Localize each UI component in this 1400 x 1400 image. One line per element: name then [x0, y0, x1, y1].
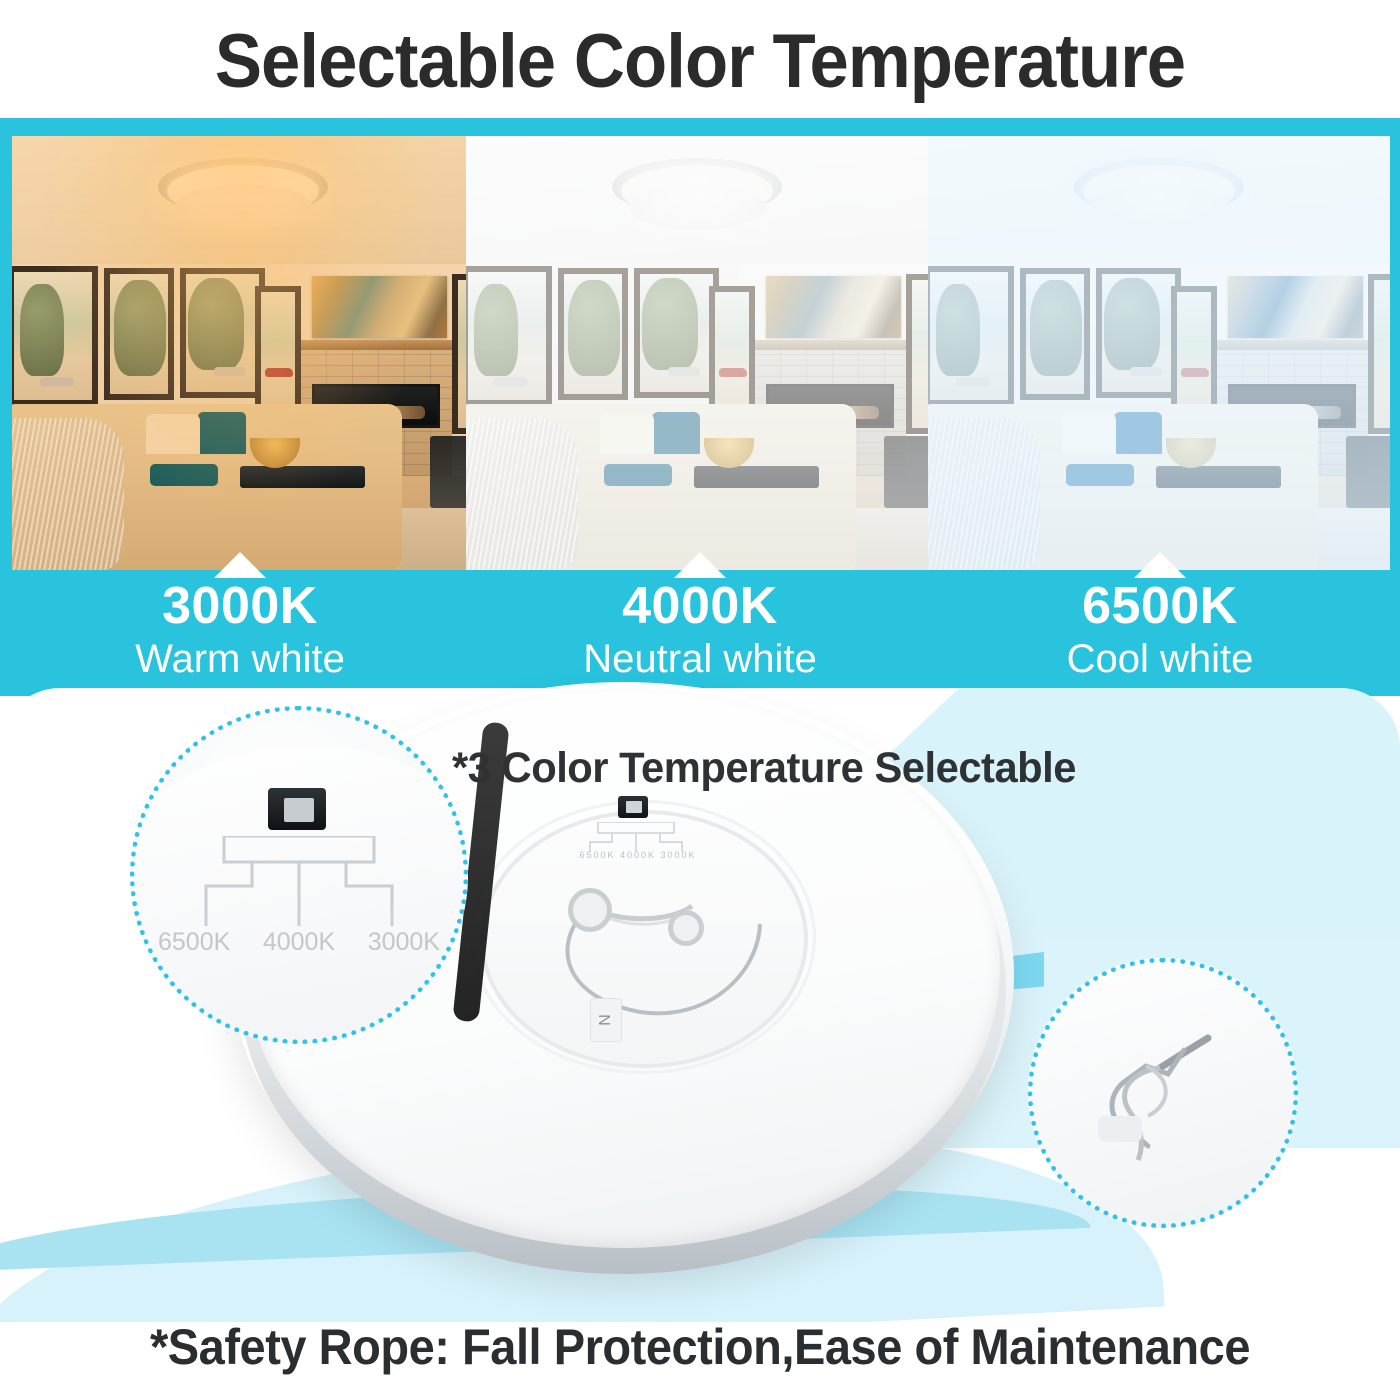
pointer-triangle-4000k [674, 552, 726, 578]
room-photo-6500k [928, 136, 1390, 570]
room-photo-strip [12, 136, 1390, 570]
switch-bracket-diagram [584, 822, 688, 852]
room-photo-3000k [12, 136, 466, 570]
callout-right-dotted-border [1028, 958, 1298, 1228]
label-group-3000k: 3000K Warm white [10, 580, 470, 682]
rope-clip-right [668, 910, 704, 946]
kelvin-name-6500k: Cool white [930, 636, 1390, 682]
kelvin-name-3000k: Warm white [10, 636, 470, 682]
kelvin-value-4000k: 4000K [470, 580, 930, 632]
page-title: Selectable Color Temperature [49, 0, 1351, 122]
color-temperature-comparison-band: 3000K Warm white 4000K Neutral white 650… [0, 118, 1400, 696]
fixture-switch-labels: 6500K 4000K 3000K [568, 850, 708, 860]
kelvin-value-6500k: 6500K [930, 580, 1390, 632]
neutral-wire-tag: N [590, 998, 622, 1042]
label-group-4000k: 4000K Neutral white [470, 580, 930, 682]
rope-clip-left [568, 888, 612, 932]
product-infographic: Selectable Color Temperature [0, 0, 1400, 1400]
pointer-triangle-3000k [214, 552, 266, 578]
kelvin-name-4000k: Neutral white [470, 636, 930, 682]
callout-left-dotted-border [130, 706, 468, 1044]
footer-caption: *Safety Rope: Fall Protection,Ease of Ma… [42, 1318, 1358, 1376]
dip-switch [618, 796, 648, 818]
kelvin-value-3000k: 3000K [10, 580, 470, 632]
label-group-6500k: 6500K Cool white [930, 580, 1390, 682]
pointer-triangle-6500k [1134, 552, 1186, 578]
room-photo-4000k [466, 136, 928, 570]
feature-heading: *3 Color Temperature Selectable [452, 744, 1076, 793]
